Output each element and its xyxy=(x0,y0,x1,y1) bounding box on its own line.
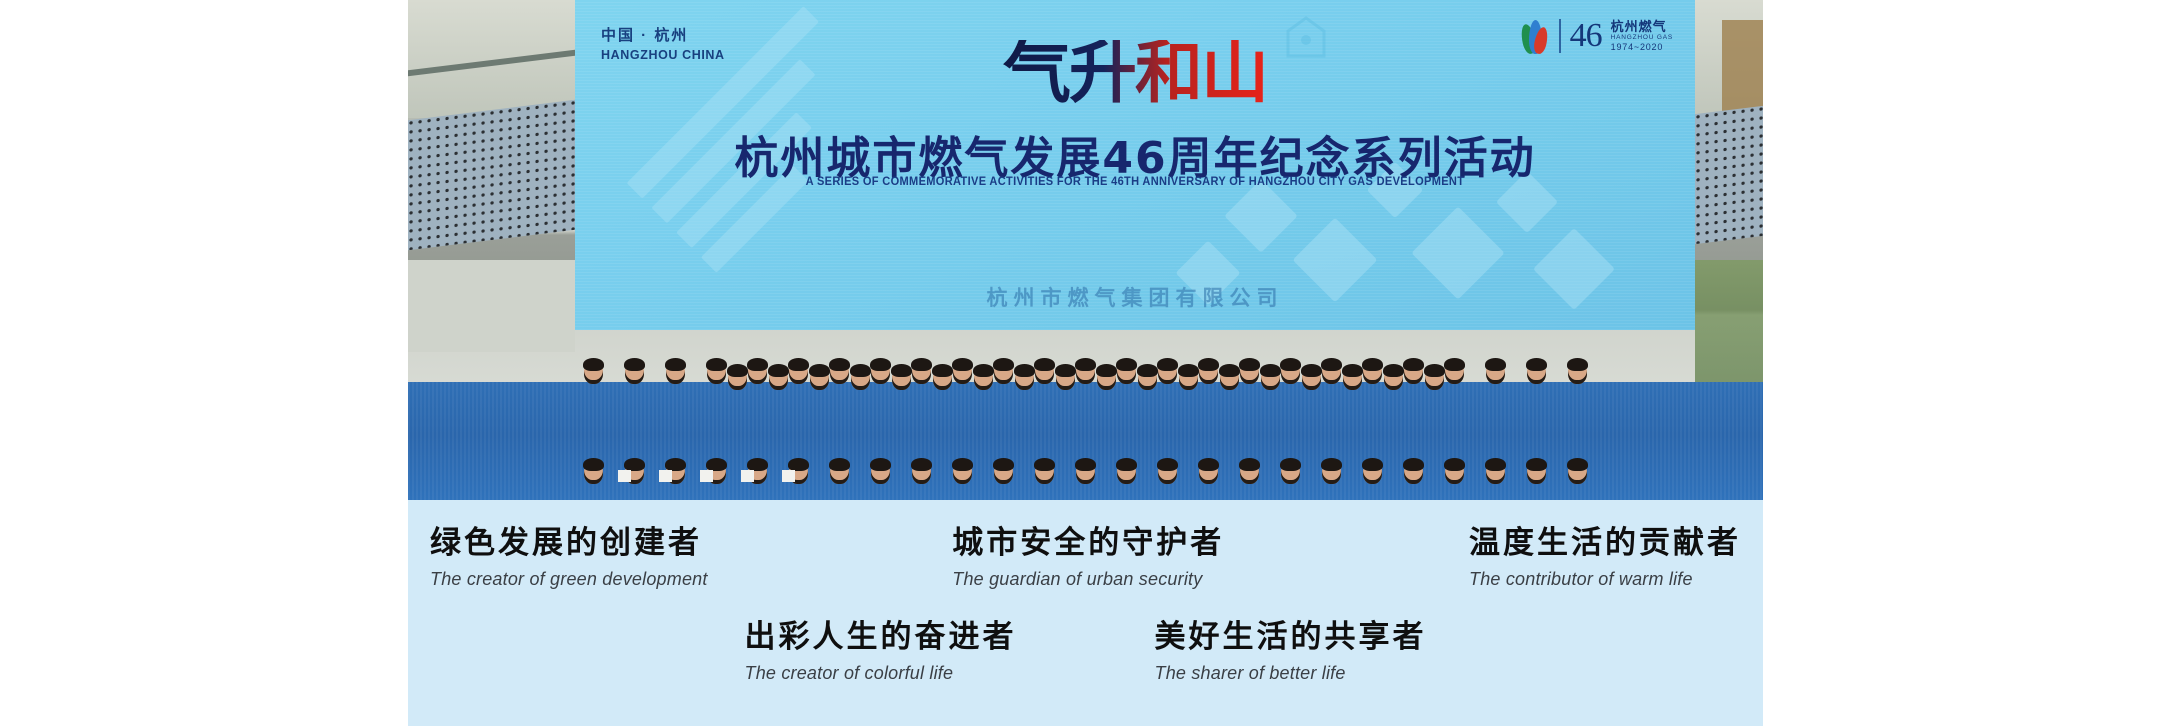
person xyxy=(1271,461,1311,482)
person xyxy=(1148,461,1188,482)
person xyxy=(1353,461,1393,482)
person xyxy=(902,461,942,482)
person xyxy=(656,461,696,482)
slogan-en: The sharer of better life xyxy=(1155,663,1427,684)
slogan-row-2: 出彩人生的奋进者 The creator of colorful life 美好… xyxy=(408,620,1763,684)
slogan-cn: 出彩人生的奋进者 xyxy=(745,620,1017,656)
person xyxy=(697,461,737,482)
slogan-panel: 绿色发展的创建者 The creator of green developmen… xyxy=(408,500,1763,726)
slogan-urban-security: 城市安全的守护者 The guardian of urban security xyxy=(952,526,1224,590)
banner-location: 中国 · 杭州 HANGZHOU CHINA xyxy=(601,24,725,62)
slogan-cn: 绿色发展的创建者 xyxy=(430,526,708,562)
page-root: 中国 · 杭州 HANGZHOU CHINA 46 杭州燃气 HANGZHOU … xyxy=(0,0,2179,726)
person xyxy=(1394,461,1434,482)
calligraphy-mark: 气升和山 xyxy=(1003,40,1267,108)
slogan-cn: 温度生活的贡献者 xyxy=(1469,526,1741,562)
anniversary-number: 46 xyxy=(1570,19,1602,53)
person xyxy=(574,461,614,482)
brand-en: HANGZHOU GAS xyxy=(1611,34,1673,42)
location-cn: 中国 · 杭州 xyxy=(601,24,725,45)
crowd-row-front xyxy=(408,364,1763,482)
slogan-cn: 城市安全的守护者 xyxy=(952,526,1224,562)
slogan-en: The contributor of warm life xyxy=(1469,569,1741,590)
person xyxy=(615,461,655,482)
content-block: 中国 · 杭州 HANGZHOU CHINA 46 杭州燃气 HANGZHOU … xyxy=(408,0,1763,726)
slogan-row-1: 绿色发展的创建者 The creator of green developmen… xyxy=(408,526,1763,590)
brand-cn: 杭州燃气 xyxy=(1611,19,1673,35)
crowd xyxy=(408,170,1763,500)
person xyxy=(1312,461,1352,482)
person xyxy=(1230,461,1270,482)
group-photo: 中国 · 杭州 HANGZHOU CHINA 46 杭州燃气 HANGZHOU … xyxy=(408,0,1763,500)
person xyxy=(984,461,1024,482)
person xyxy=(779,461,819,482)
slogan-en: The guardian of urban security xyxy=(952,569,1224,590)
slogan-colorful-life: 出彩人生的奋进者 The creator of colorful life xyxy=(745,620,1017,684)
person xyxy=(738,461,778,482)
person xyxy=(861,461,901,482)
person xyxy=(1189,461,1229,482)
slogan-green-development: 绿色发展的创建者 The creator of green developmen… xyxy=(430,526,708,590)
person xyxy=(1558,461,1598,482)
person xyxy=(1066,461,1106,482)
logo-divider xyxy=(1559,19,1561,53)
person xyxy=(1435,461,1475,482)
person xyxy=(943,461,983,482)
slogan-en: The creator of green development xyxy=(430,569,708,590)
location-en: HANGZHOU CHINA xyxy=(601,48,725,62)
anniversary-logo: 46 杭州燃气 HANGZHOU GAS 1974~2020 xyxy=(1522,18,1673,54)
brand-years: 1974~2020 xyxy=(1611,42,1673,53)
slogan-cn: 美好生活的共享者 xyxy=(1155,620,1427,656)
person xyxy=(820,461,860,482)
flame-icon xyxy=(1522,18,1550,54)
person xyxy=(1517,461,1557,482)
person xyxy=(1025,461,1065,482)
person xyxy=(1107,461,1147,482)
brand-lockup: 杭州燃气 HANGZHOU GAS 1974~2020 xyxy=(1611,19,1673,54)
slogan-warm-life: 温度生活的贡献者 The contributor of warm life xyxy=(1469,526,1741,590)
slogan-en: The creator of colorful life xyxy=(745,663,1017,684)
person xyxy=(1476,461,1516,482)
house-icon xyxy=(1283,14,1329,60)
slogan-better-life: 美好生活的共享者 The sharer of better life xyxy=(1155,620,1427,684)
